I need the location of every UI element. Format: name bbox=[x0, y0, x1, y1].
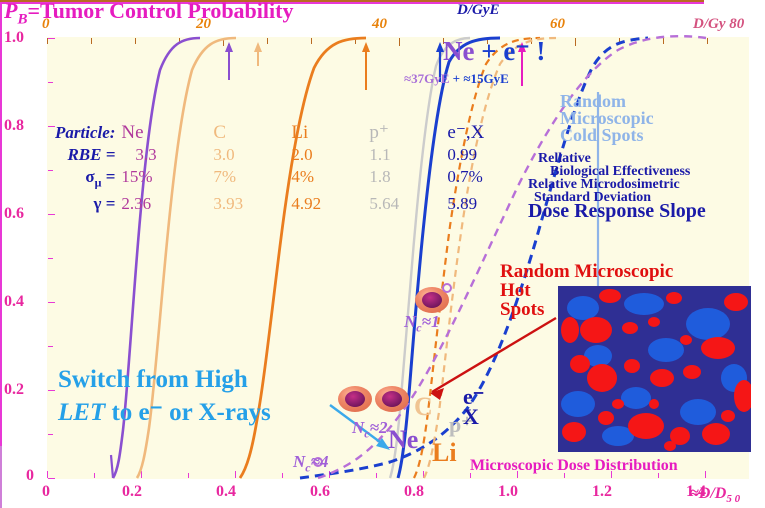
marker-dot bbox=[443, 284, 451, 292]
cell-icon-double bbox=[338, 386, 409, 412]
curve-label-li: Li bbox=[432, 438, 457, 468]
table-cell-name-e: e⁻,X bbox=[447, 122, 525, 144]
cold-line-3: Cold Spots bbox=[560, 127, 654, 144]
curve-label-c: C bbox=[414, 392, 433, 422]
table-cell-sigma-ne: 15% bbox=[121, 166, 213, 193]
sigma-equals: = bbox=[101, 167, 115, 186]
chart-root: PB=Tumor Control Probability 0 20 40 60 … bbox=[0, 0, 765, 508]
table-cell-rbe-p: 1.1 bbox=[369, 144, 447, 166]
switch-let: LET bbox=[58, 399, 105, 426]
table-row-sigma: σμ = 15% 7% 4% 1.8 0.7% bbox=[55, 166, 525, 193]
annotation-cold-spots: Random Microscopic Cold Spots bbox=[560, 93, 654, 144]
gye-left: ≈37GyE bbox=[404, 71, 449, 86]
table-cell-rbe-e: 0.99 bbox=[447, 144, 525, 166]
gamma-equals: = bbox=[101, 194, 115, 213]
table-cell-gamma-li: 4.92 bbox=[291, 193, 369, 215]
switch-line-1: Switch from High bbox=[58, 363, 271, 396]
nc-value: ≈1 bbox=[422, 312, 440, 331]
hot-spots-arrow bbox=[432, 318, 556, 392]
curve-lithium-dashed bbox=[424, 38, 556, 478]
table-rowhead-rbe: RBE = bbox=[55, 144, 121, 166]
legend-explanation: Rellative Biological Effectiveness Relat… bbox=[528, 152, 706, 218]
hot-line-1: Random Microscopic bbox=[500, 262, 673, 281]
table-cell-sigma-e: 0.7% bbox=[447, 166, 525, 193]
table-rowhead-sigma: σμ = bbox=[55, 166, 121, 193]
nc-value: ≈2 bbox=[370, 418, 388, 437]
table-cell-name-p: p⁺ bbox=[369, 122, 447, 144]
dose-map-svg bbox=[558, 286, 751, 452]
table-cell-gamma-e: 5.89 bbox=[447, 193, 525, 215]
rbe-equals: = bbox=[101, 145, 115, 164]
table-row-gamma: γ = 2.36 3.93 4.92 5.64 5.89 bbox=[55, 193, 525, 215]
table-cell-gamma-ne: 2.36 bbox=[121, 193, 213, 215]
table-rowhead-particle: Particle: bbox=[55, 122, 121, 144]
label-nc-2: Nc≈2 bbox=[352, 418, 387, 441]
sigma-symbol: σ bbox=[85, 167, 94, 186]
table-row-particle: Particle: Ne C Li p⁺ e⁻,X bbox=[55, 122, 525, 144]
legend-line-5: Dose Response Slope bbox=[528, 204, 706, 218]
nc-n: N bbox=[404, 312, 416, 331]
table-cell-sigma-p: 1.8 bbox=[369, 166, 447, 193]
curve-ne-stub bbox=[111, 455, 113, 478]
table-cell-rbe-c: 3.0 bbox=[213, 144, 291, 166]
table-cell-name-c: C bbox=[213, 122, 291, 144]
particle-table: Particle: Ne C Li p⁺ e⁻,X RBE = 3.3 3.0 … bbox=[55, 122, 525, 215]
rbe-symbol: RBE bbox=[67, 145, 101, 164]
switch-line-2: LET to e⁻ or X-rays bbox=[58, 396, 271, 429]
nc-n: N bbox=[352, 418, 364, 437]
switch-rest: to e⁻ or X-rays bbox=[105, 399, 270, 426]
label-nc-1: Nc≈1 bbox=[404, 312, 439, 335]
table-cell-rbe-ne: 3.3 bbox=[121, 144, 213, 166]
nc-n: N bbox=[293, 452, 305, 471]
curve-label-x: X bbox=[463, 407, 484, 427]
table-rowhead-gamma: γ = bbox=[55, 193, 121, 215]
microscopic-dose-distribution-inset bbox=[558, 286, 751, 452]
annotation-switch: Switch from High LET to e⁻ or X-rays bbox=[58, 363, 271, 429]
gye-right: ≈15GyE bbox=[463, 71, 508, 86]
nc-value: ≈4 bbox=[311, 452, 329, 471]
gye-plus: + bbox=[453, 71, 460, 86]
table-cell-gamma-p: 5.64 bbox=[369, 193, 447, 215]
label-nc-4: Nc≈4 bbox=[293, 452, 328, 475]
label-microscopic-dose-distribution: Microscopic Dose Distribution bbox=[470, 458, 678, 474]
annotation-plus-electron: + e⁻ ! bbox=[481, 36, 545, 66]
annotation-gye-sum: ≈37GyE + ≈15GyE bbox=[404, 72, 509, 85]
table-cell-sigma-c: 7% bbox=[213, 166, 291, 193]
table-cell-name-ne: Ne bbox=[121, 122, 213, 144]
table-cell-name-li: Li bbox=[291, 122, 369, 144]
curve-label-electron-x: e⁻ X bbox=[463, 387, 484, 427]
table-cell-sigma-li: 4% bbox=[291, 166, 369, 193]
annotation-ne-plus-electron: Ne + e⁻ ! bbox=[443, 38, 545, 65]
annotation-ne: Ne bbox=[443, 36, 474, 66]
table-cell-gamma-c: 3.93 bbox=[213, 193, 291, 215]
table-row-rbe: RBE = 3.3 3.0 2.0 1.1 0.99 bbox=[55, 144, 525, 166]
curve-label-ne: Ne bbox=[388, 425, 418, 455]
table-cell-rbe-li: 2.0 bbox=[291, 144, 369, 166]
